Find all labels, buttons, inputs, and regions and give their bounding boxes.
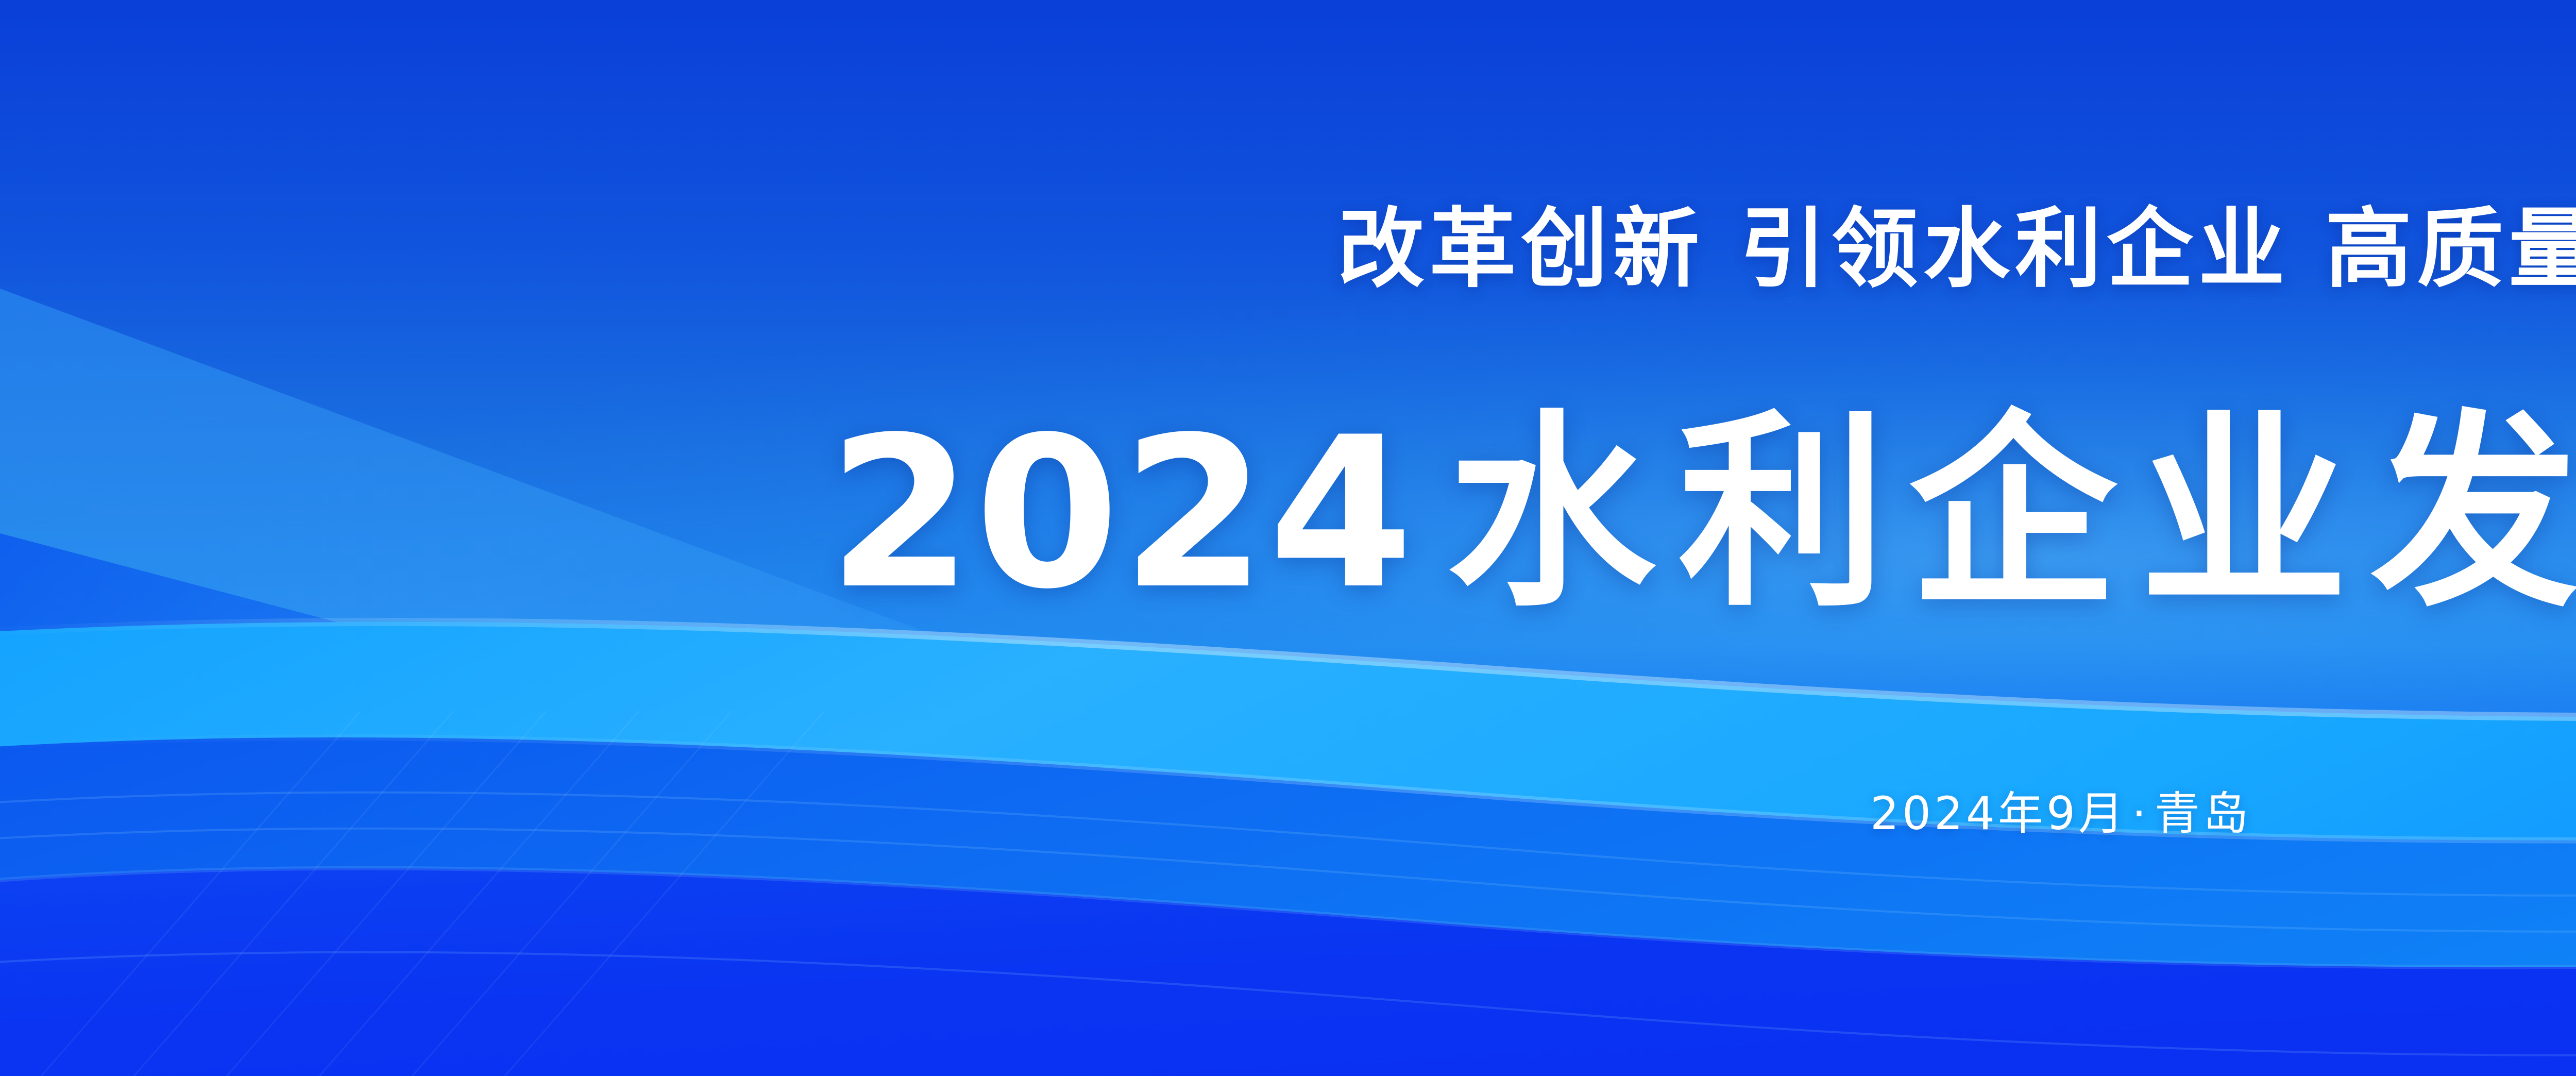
- forum-banner: 改革创新 引领水利企业 高质量发展 2024水利企业发展论坛 2024年9月·青…: [0, 0, 2576, 1076]
- background-wave-graphic: [0, 0, 2576, 1076]
